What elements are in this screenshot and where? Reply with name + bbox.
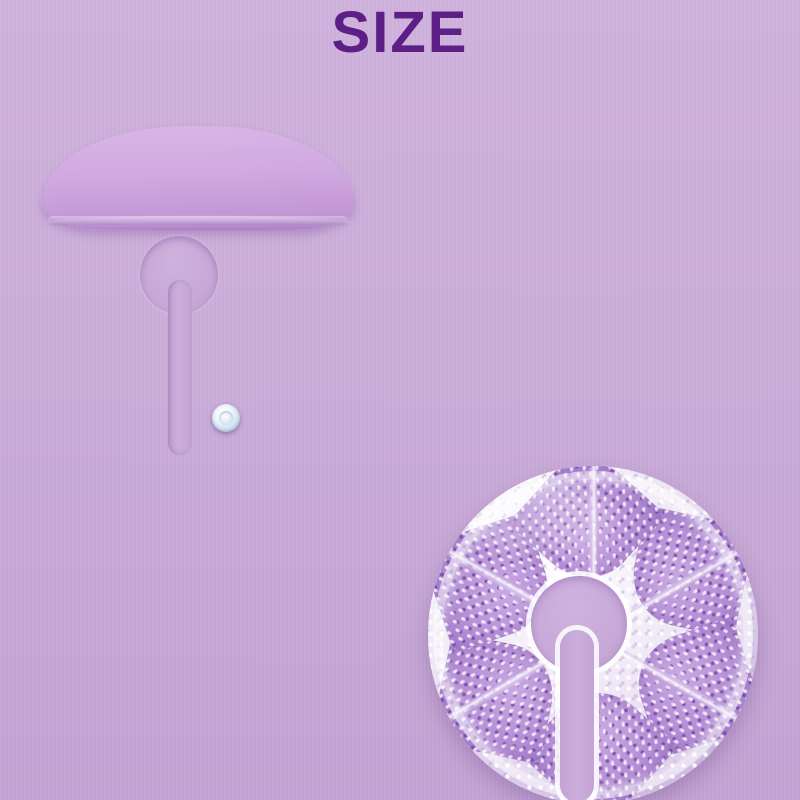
gel-pad-product — [418, 458, 768, 800]
snap-button-icon — [212, 404, 240, 432]
velvet-cover-image — [36, 120, 366, 452]
page-title: SIZE — [0, 4, 800, 62]
infographic-page: SIZE — [0, 0, 800, 800]
velvet-slot-opening — [168, 280, 192, 455]
velvet-seam — [40, 216, 356, 230]
velvet-flap — [42, 126, 354, 230]
velvet-cover-product — [28, 110, 373, 462]
gel-slot-opening — [560, 630, 594, 800]
